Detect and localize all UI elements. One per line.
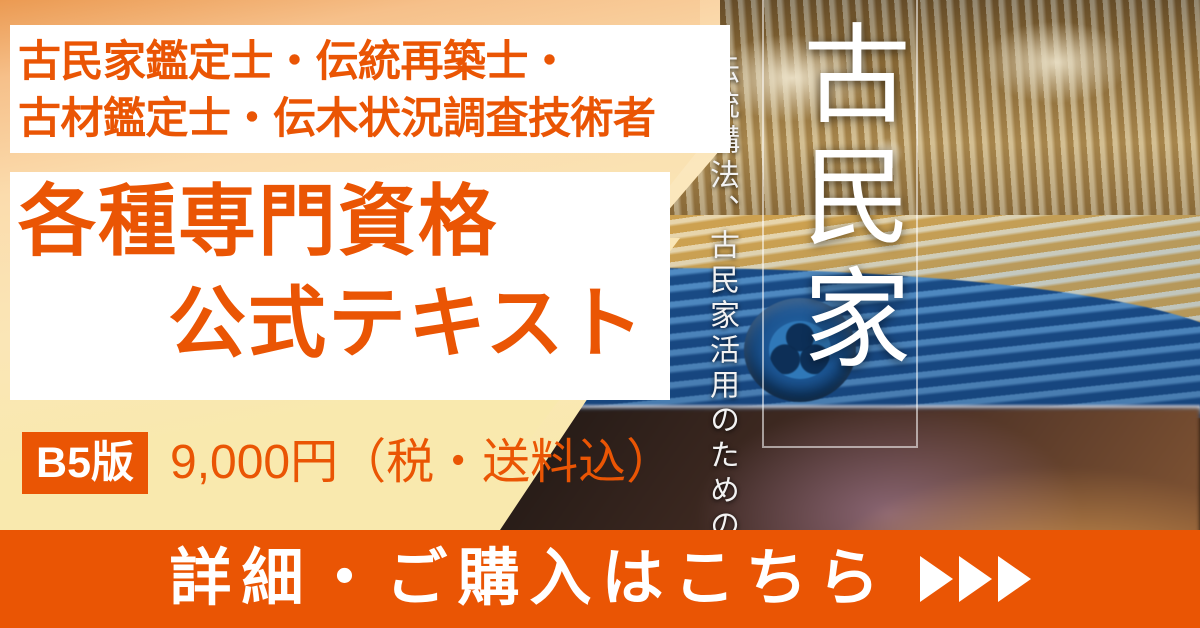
headline-line-1: 古民家鑑定士・伝統再築士・: [18, 34, 724, 91]
triangle-right-icon: [998, 556, 1031, 602]
title-line-1: 各種専門資格: [18, 182, 498, 262]
triangle-right-icon: [920, 556, 953, 602]
triangle-right-icon: [959, 556, 992, 602]
cta-arrows: [920, 556, 1031, 602]
price-text: 9,000円（税・送料込）: [170, 432, 674, 494]
cta-label: 詳細・ご購入はこちら: [169, 548, 889, 610]
title-line-2: 公式テキスト: [168, 284, 646, 364]
promo-banner: 伝統構法、古民家活用のための調査と再生の 古民家 古民家鑑定士・伝統再築士・ 古…: [0, 0, 1200, 628]
format-badge: B5版: [22, 432, 148, 494]
cover-title: 古民家: [780, 18, 900, 384]
headline: 古民家鑑定士・伝統再築士・ 古材鑑定士・伝木状況調査技術者: [18, 34, 724, 148]
headline-line-2: 古材鑑定士・伝木状況調査技術者: [18, 91, 724, 148]
cta-bar[interactable]: 詳細・ご購入はこちら: [0, 530, 1200, 628]
